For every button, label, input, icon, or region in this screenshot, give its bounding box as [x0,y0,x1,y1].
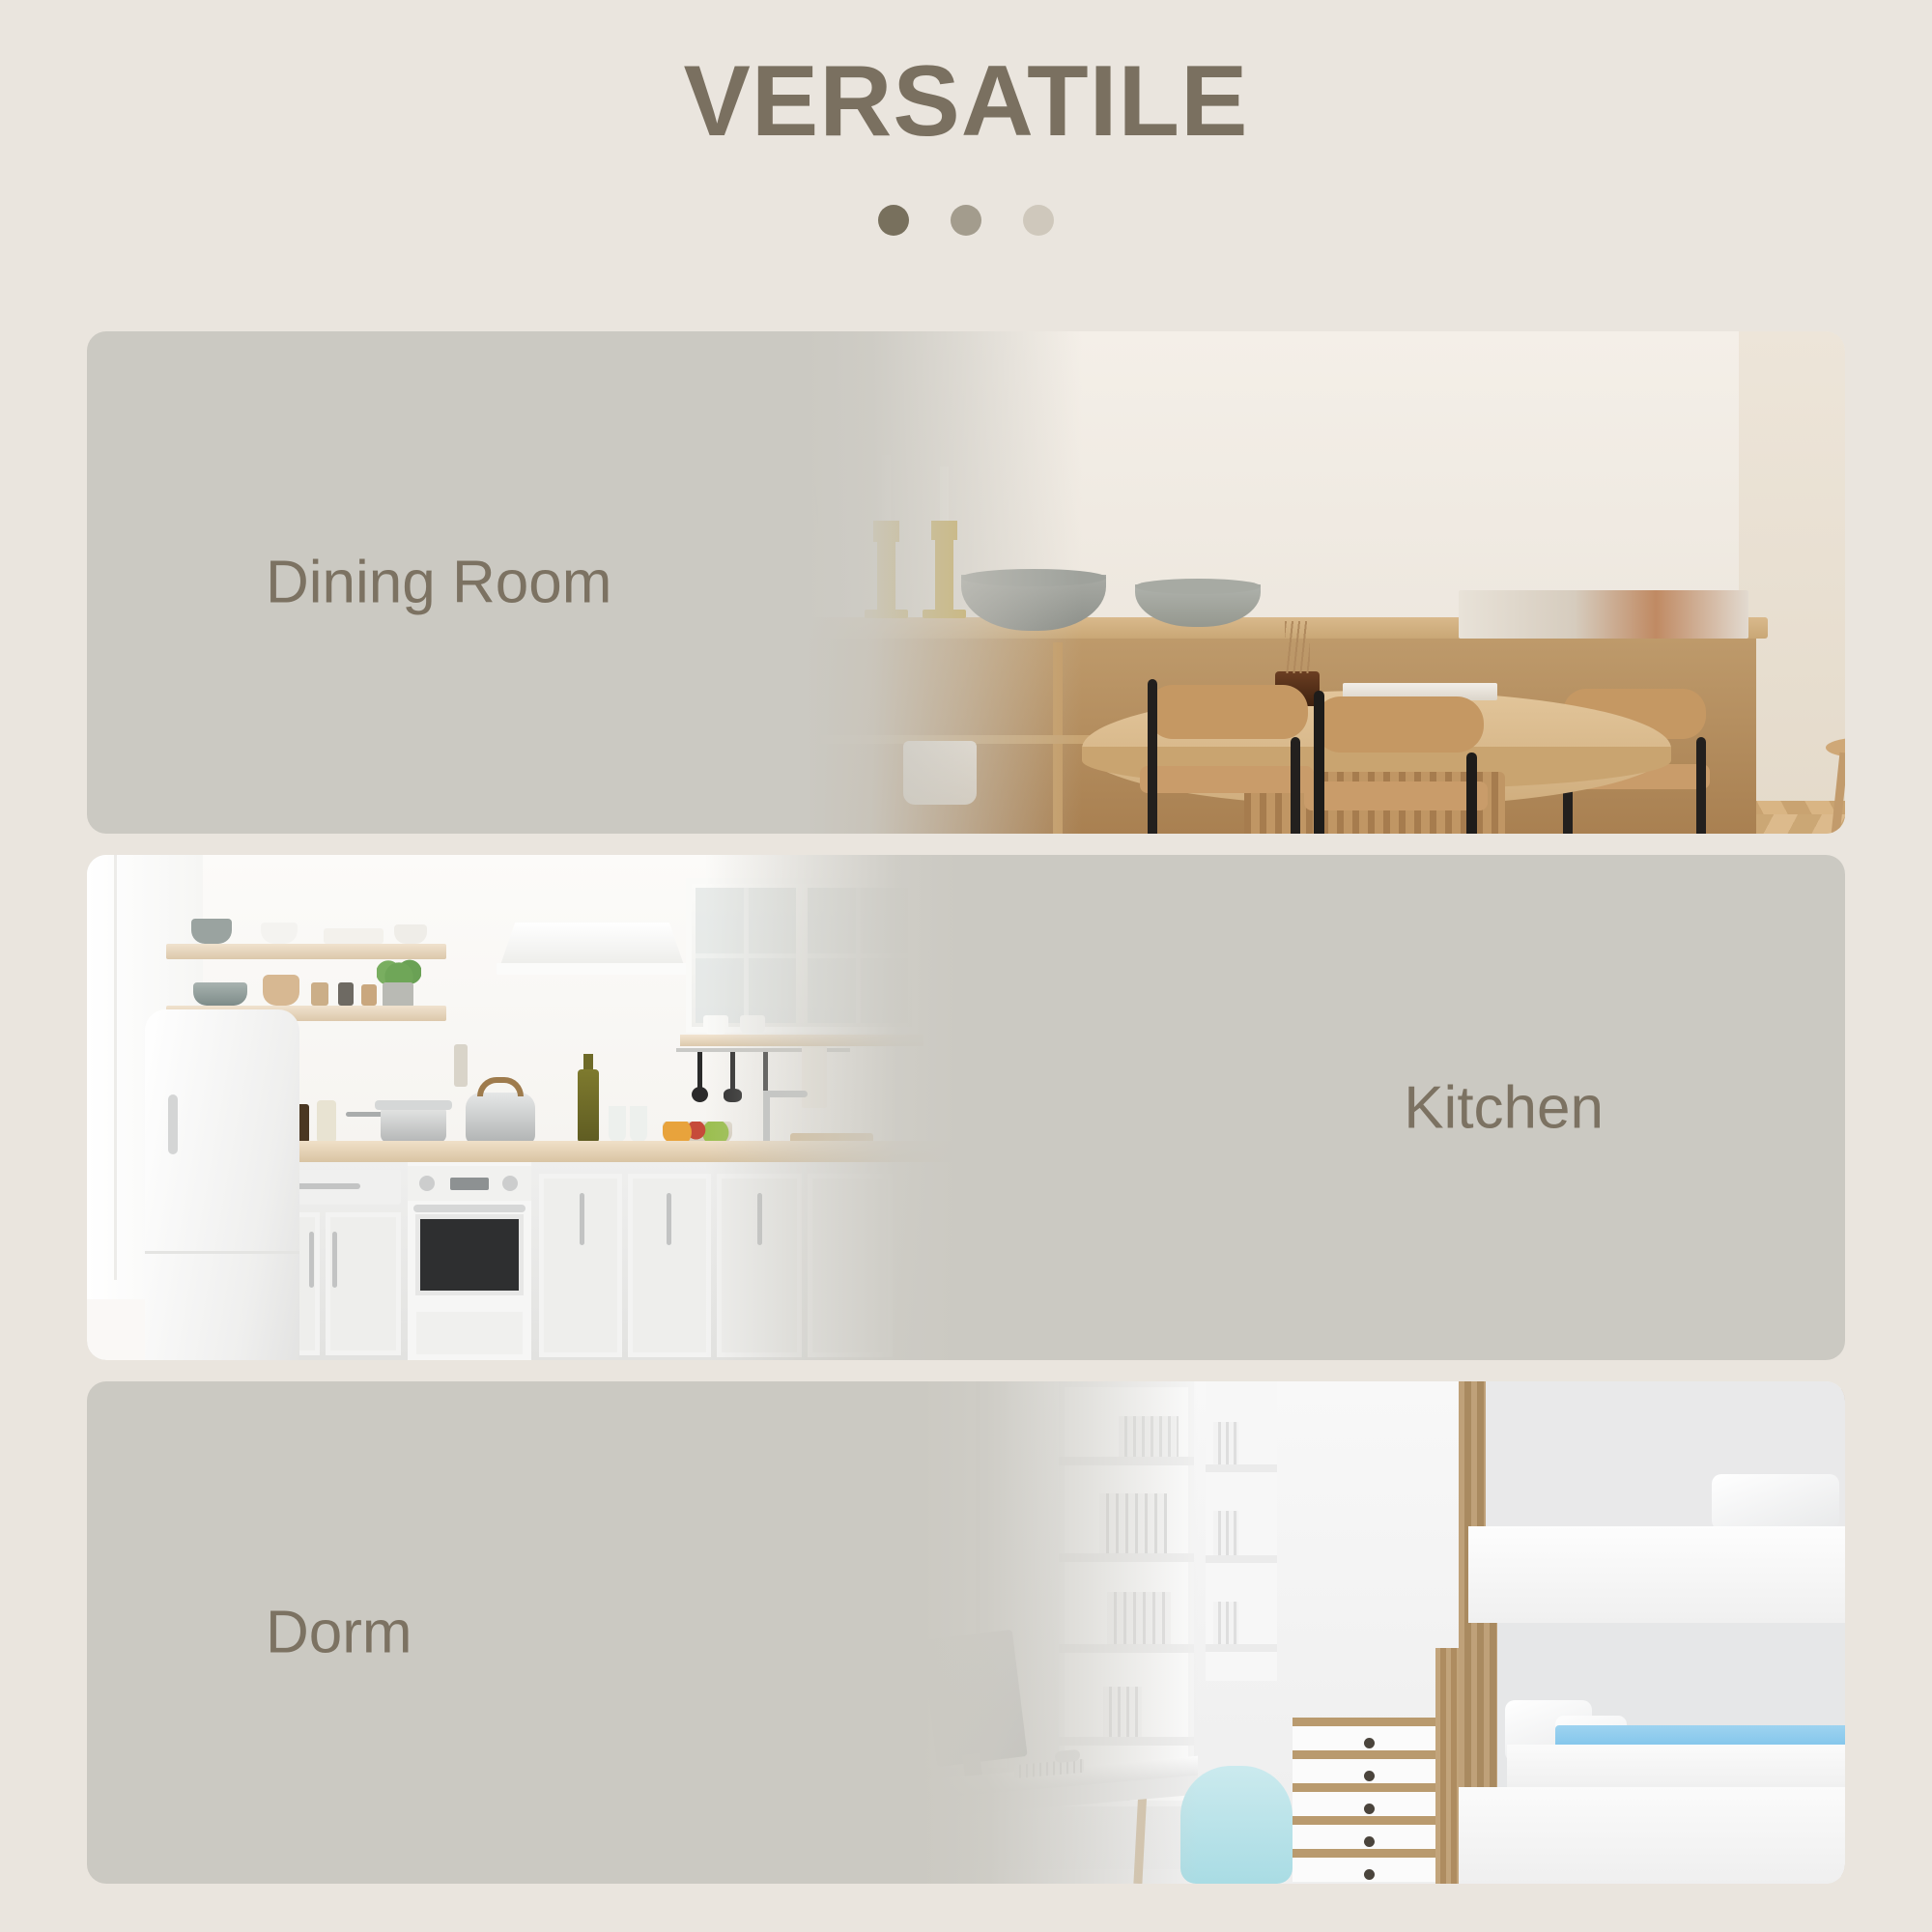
kitchen-refrigerator-handle [168,1094,178,1154]
dorm-left-fade-mask [879,1381,1198,1884]
dorm-bunk-base-frame [1459,1787,1845,1884]
kitchen-shelf-plates-teal [193,982,247,1006]
kitchen-scene [87,855,995,1360]
kitchen-kettle [466,1093,535,1145]
dining-chair-2-leg-right [1466,753,1477,834]
dining-chair-2-leg-left [1314,753,1324,834]
dorm-stair-step-5 [1293,1849,1435,1882]
kitchen-shelf-wooden-bowl [263,975,299,1006]
kitchen-shelf-jar-3 [361,984,377,1006]
dining-bowl-small-rim [1135,579,1261,594]
kitchen-shelf-cup [394,924,427,944]
kitchen-shelf-bowl-grey [191,919,232,944]
dorm-secondary-books-3 [1213,1602,1238,1644]
kitchen-saucepan [381,1108,446,1143]
page-header: VERSATILE [0,0,1932,290]
carousel-dot-1-icon[interactable] [878,205,909,236]
dining-chair-3-leg-right [1696,737,1706,834]
dorm-stair-step-2 [1293,1750,1435,1783]
dorm-stair-knob-5-icon [1364,1869,1375,1880]
kitchen-right-fade-mask [705,855,995,1360]
carousel-dot-3-icon[interactable] [1023,205,1054,236]
kitchen-oven-door-glass [415,1214,524,1295]
kitchen-wine-bottle [578,1069,599,1143]
dining-left-fade-mask [763,331,1082,834]
kitchen-shelf-plant-pot [383,982,413,1008]
kitchen-shelf-jar-1 [311,982,328,1006]
card-dining-room[interactable]: Dining Room [87,331,1845,834]
kitchen-wine-glass-2 [630,1106,647,1143]
carousel-dot-2-icon[interactable] [951,205,981,236]
card-dorm[interactable]: Dorm [87,1381,1845,1884]
dorm-secondary-shelf-3 [1206,1644,1277,1652]
kitchen-glass-bottle-wall [454,1044,468,1087]
dorm-scene [879,1381,1845,1884]
kitchen-oven-handle [413,1205,526,1212]
dining-table-reeds [1285,621,1310,673]
dorm-secondary-shelf-1 [1206,1464,1277,1472]
kitchen-refrigerator [145,1009,299,1360]
dorm-stair-step-3 [1293,1783,1435,1816]
kitchen-wine-glass-1 [609,1106,626,1143]
kitchen-shelf-plate-stack [324,928,384,944]
dining-chair-1-leg-left [1148,737,1157,834]
kitchen-window-frame [114,855,117,1280]
kitchen-cabinet-handle-2 [332,1232,337,1288]
dorm-stair-step-4 [1293,1816,1435,1849]
page-title: VERSATILE [0,46,1932,156]
dining-chair-1-seat [1140,766,1314,793]
kitchen-saucepan-lid [375,1100,452,1110]
dorm-stair-knob-2-icon [1364,1771,1375,1781]
card-kitchen-label: Kitchen [1404,1073,1604,1142]
kitchen-oven-knob-left [419,1176,435,1191]
dorm-stair-step-1 [1293,1718,1435,1750]
carousel-dots[interactable] [0,205,1932,236]
kitchen-oven-warming-drawer [412,1307,527,1359]
card-dining-room-label: Dining Room [266,549,611,617]
kitchen-shelf-jar-2 [338,982,354,1006]
kitchen-oil-bottle-2 [317,1100,336,1143]
dorm-storage-stairs [1293,1718,1435,1884]
dorm-stair-knob-1-icon [1364,1738,1375,1748]
kitchen-cabinet-handle-4 [667,1193,671,1245]
dining-chair-2-seat [1304,781,1488,810]
card-dorm-label: Dorm [266,1599,412,1667]
kitchen-oven-display [450,1178,489,1190]
dining-bookshelf-books [1459,590,1748,639]
dorm-secondary-books-1 [1213,1422,1238,1464]
card-kitchen[interactable]: Kitchen [87,855,1845,1360]
kitchen-oven-knob-right [502,1176,518,1191]
dining-chair-1-back [1148,685,1308,739]
dorm-secondary-books-2 [1213,1511,1238,1555]
dining-room-scene [763,331,1845,834]
kitchen-range-hood-lip [497,963,688,975]
dorm-bunk-upper-pillow [1712,1474,1839,1530]
dining-chair-2-back [1314,696,1484,753]
kitchen-shelf-bowl-white [261,923,298,944]
kitchen-cabinet-handle-1 [309,1232,314,1288]
kitchen-range-hood [500,923,684,965]
dorm-stair-knob-4-icon [1364,1836,1375,1847]
versatile-page: VERSATILE [0,0,1932,1932]
dorm-secondary-shelf-2 [1206,1555,1277,1563]
dorm-stair-knob-3-icon [1364,1804,1375,1814]
dorm-bunk-guard-rail [1468,1526,1845,1623]
kitchen-refrigerator-seam [145,1251,299,1254]
kitchen-cabinet-handle-3 [580,1193,584,1245]
dining-chair-1-leg-right [1291,737,1300,834]
